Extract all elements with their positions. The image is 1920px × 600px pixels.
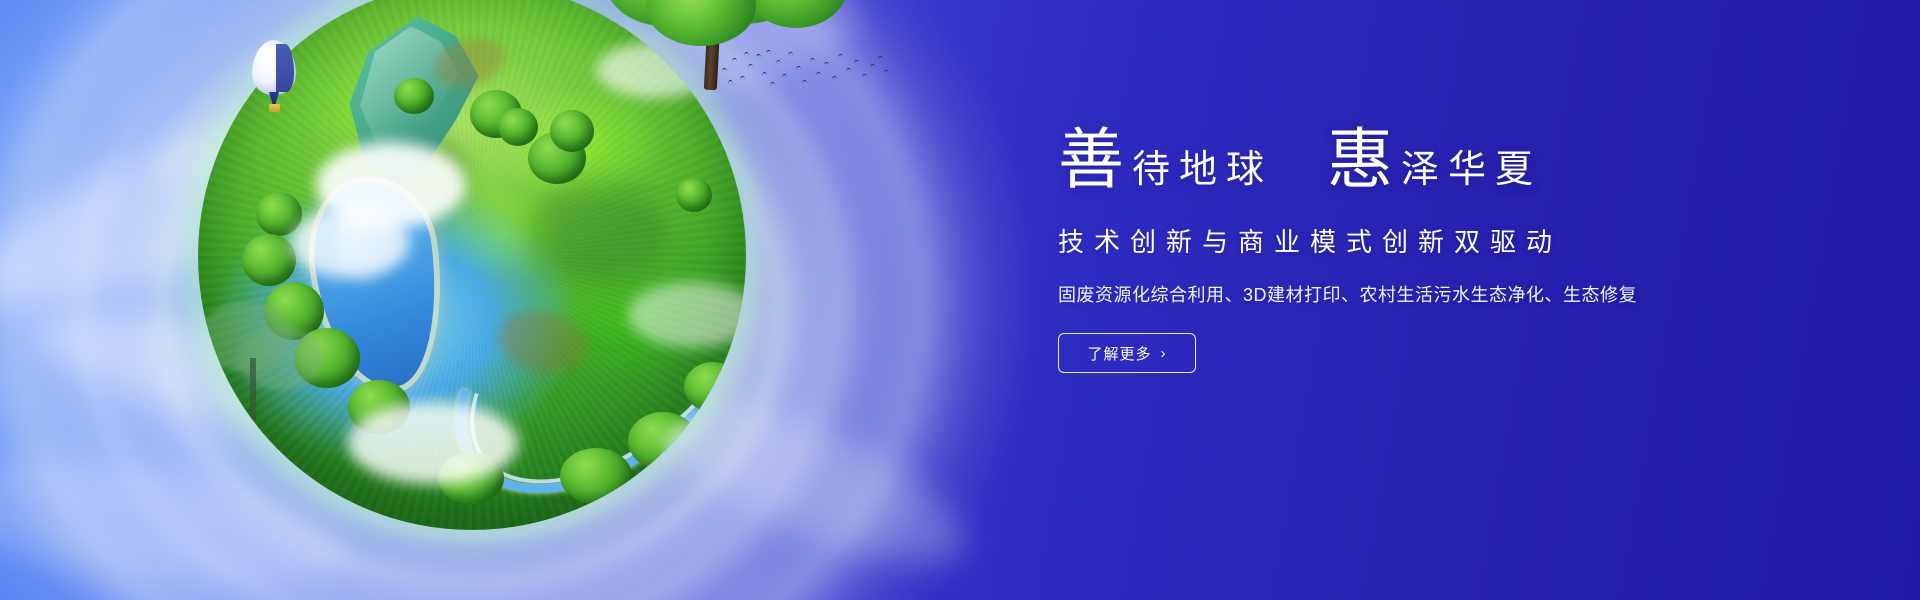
tree-icon	[242, 234, 296, 286]
headline-char-2: 惠	[1327, 128, 1393, 194]
bare-tree-trunk	[250, 358, 256, 420]
banner-description: 固废资源化综合利用、3D建材打印、农村生活污水生态净化、生态修复	[1058, 281, 1758, 307]
learn-more-button[interactable]: 了解更多 ›	[1058, 333, 1196, 373]
tree-icon	[498, 108, 538, 146]
tree-canopy	[646, 0, 756, 46]
page-title: 善 待地球 惠 泽华夏	[1058, 128, 1758, 216]
balloon-basket	[269, 104, 280, 112]
hero-banner: 善 待地球 惠 泽华夏 技术创新与商业模式创新双驱动 固废资源化综合利用、3D建…	[0, 0, 1920, 600]
headline-part-2: 泽华夏	[1401, 151, 1542, 189]
tree-icon	[676, 178, 712, 212]
bird-flock-icon	[718, 46, 890, 98]
banner-subtitle: 技术创新与商业模式创新双驱动	[1058, 222, 1758, 259]
tree-icon	[394, 78, 434, 114]
learn-more-label: 了解更多	[1087, 343, 1151, 364]
bare-tree-icon	[198, 296, 332, 426]
banner-copy: 善 待地球 惠 泽华夏 技术创新与商业模式创新双驱动 固废资源化综合利用、3D建…	[1058, 128, 1758, 373]
hot-air-balloon-icon	[252, 40, 296, 118]
surface-cloud	[290, 208, 410, 278]
tree-icon	[684, 362, 742, 412]
surface-cloud	[348, 402, 518, 484]
balloon-neck	[269, 92, 279, 104]
headline-part-1: 待地球	[1132, 151, 1273, 189]
surface-cloud	[628, 282, 746, 348]
headline-char-1: 善	[1058, 128, 1124, 194]
tree-canopy	[744, 0, 848, 28]
tree-icon	[560, 448, 632, 504]
chevron-right-icon: ›	[1161, 346, 1167, 361]
tree-icon	[550, 110, 594, 152]
balloon-stripe	[276, 44, 294, 92]
